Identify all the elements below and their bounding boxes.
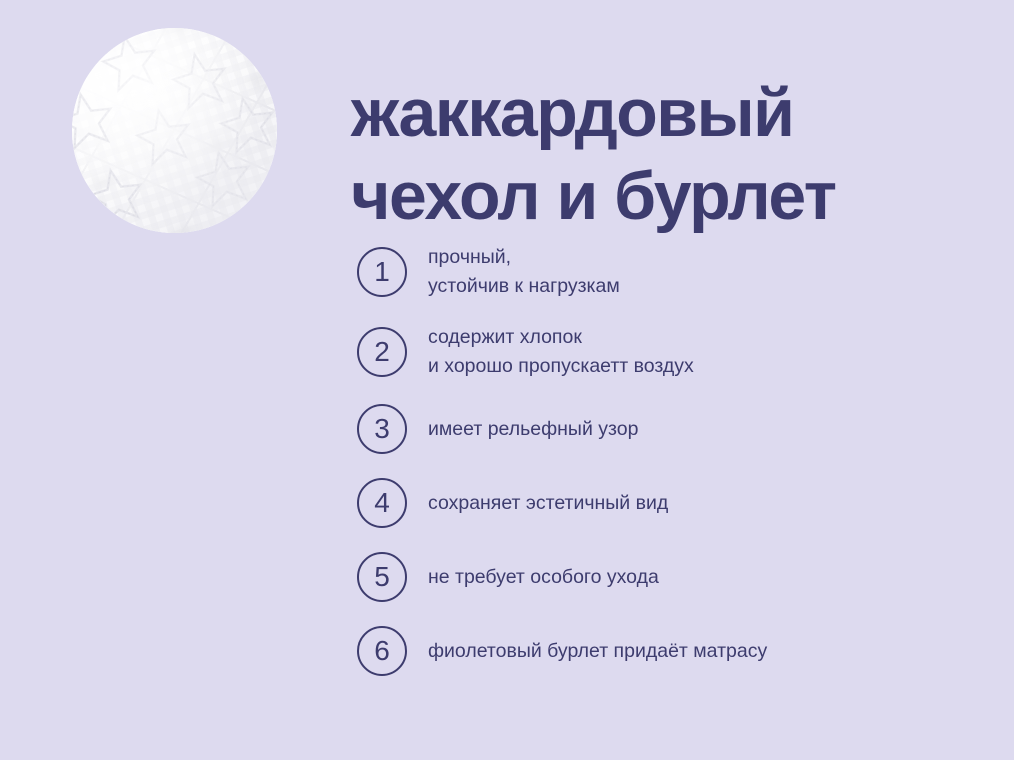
list-item-label: имеет рельефный узор [428, 415, 638, 444]
page-title-line-1: жаккардовый [351, 72, 1001, 155]
list-item-number-badge: 2 [357, 327, 407, 377]
list-item-number-badge: 4 [357, 478, 407, 528]
list-item-number-badge: 6 [357, 626, 407, 676]
list-item-label: прочный, устойчив к нагрузкам [428, 243, 620, 301]
fabric-star-quilting [72, 28, 277, 233]
list-item-number-badge: 5 [357, 552, 407, 602]
feature-list: 1 прочный, устойчив к нагрузкам 2 содерж… [357, 243, 957, 699]
list-item-label: фиолетовый бурлет придаёт матрасу [428, 637, 767, 666]
list-item-number-badge: 3 [357, 404, 407, 454]
list-item: 2 содержит хлопок и хорошо пропускаетт в… [357, 323, 957, 381]
list-item: 4 сохраняет эстетичный вид [357, 477, 957, 529]
list-item-number-badge: 1 [357, 247, 407, 297]
list-item: 3 имеет рельефный узор [357, 403, 957, 455]
page-title: жаккардовый чехол и бурлет [351, 72, 1001, 238]
list-item: 1 прочный, устойчив к нагрузкам [357, 243, 957, 301]
jacquard-fabric-photo [72, 28, 277, 233]
list-item-label: не требует особого ухода [428, 563, 659, 592]
list-item: 5 не требует особого ухода [357, 551, 957, 603]
page-title-line-2: чехол и бурлет [351, 155, 1001, 238]
list-item: 6 фиолетовый бурлет придаёт матрасу [357, 625, 957, 677]
slide-root: жаккардовый чехол и бурлет 1 прочный, ус… [0, 0, 1014, 760]
list-item-label: содержит хлопок и хорошо пропускаетт воз… [428, 323, 694, 381]
list-item-label: сохраняет эстетичный вид [428, 489, 668, 518]
